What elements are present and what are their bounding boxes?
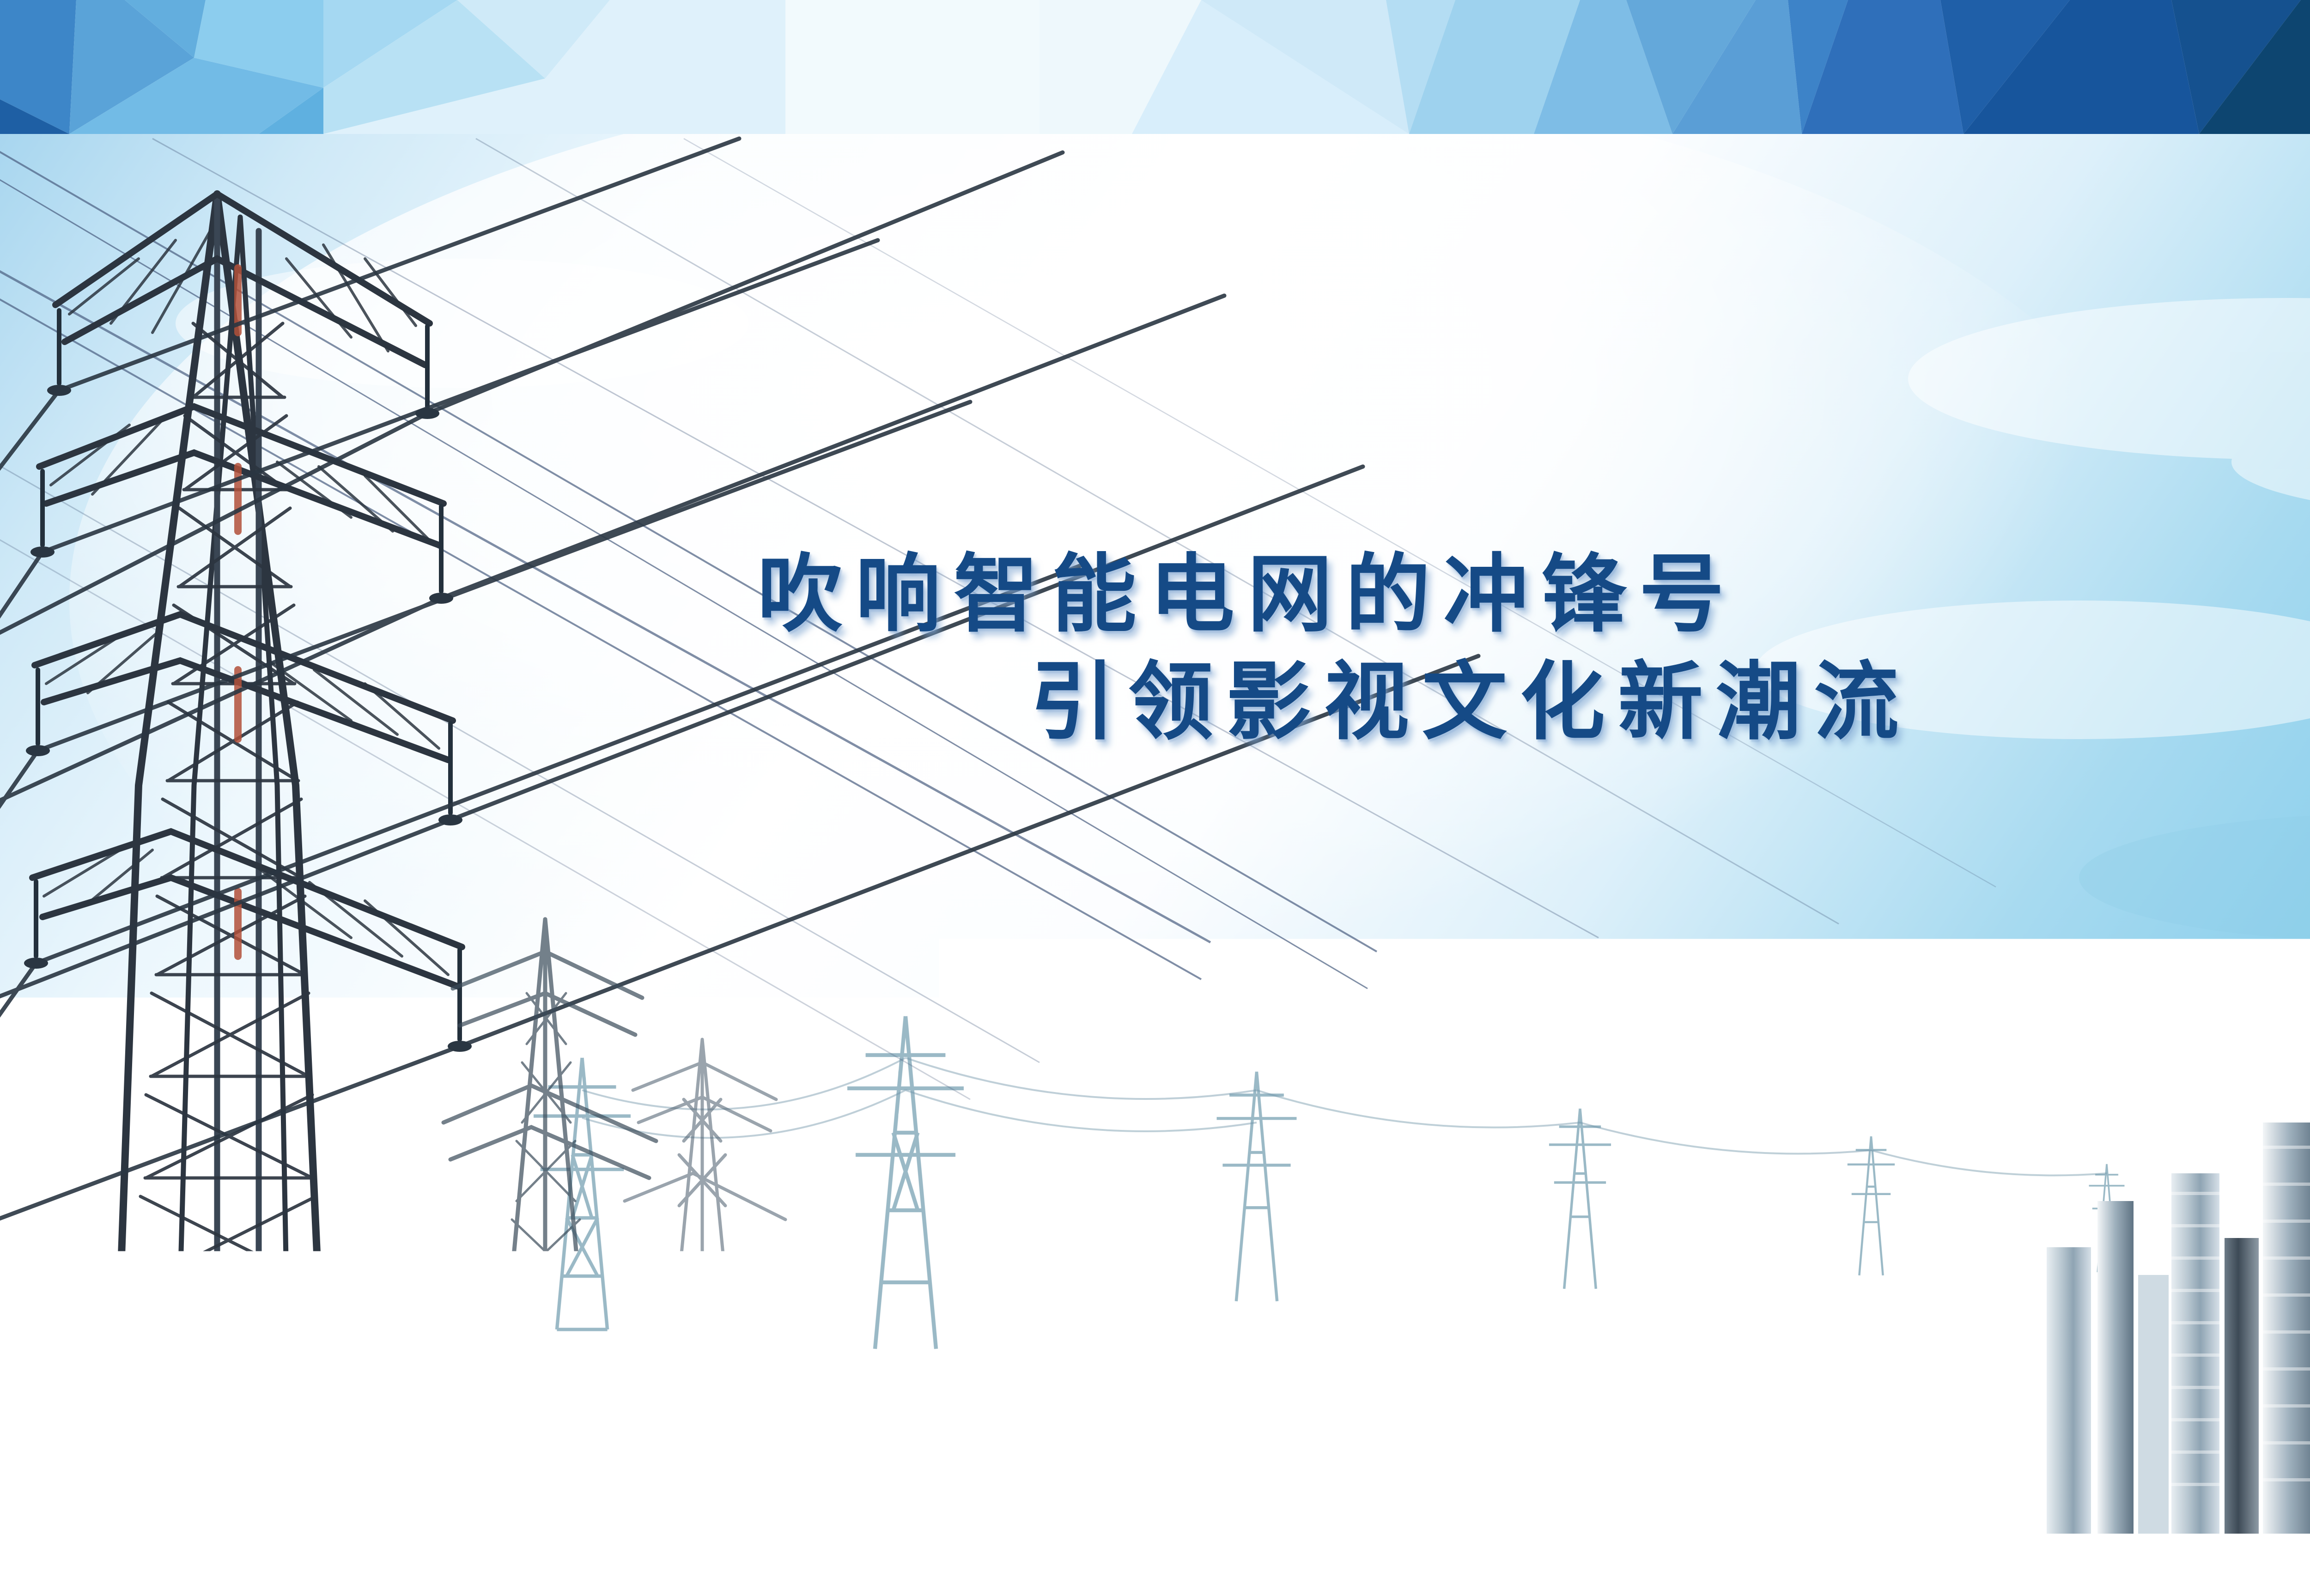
poster-canvas: 吹响智能电网的冲锋号 引领影视文化新潮流 [0,0,2310,1596]
scene-artwork [0,0,2310,1596]
